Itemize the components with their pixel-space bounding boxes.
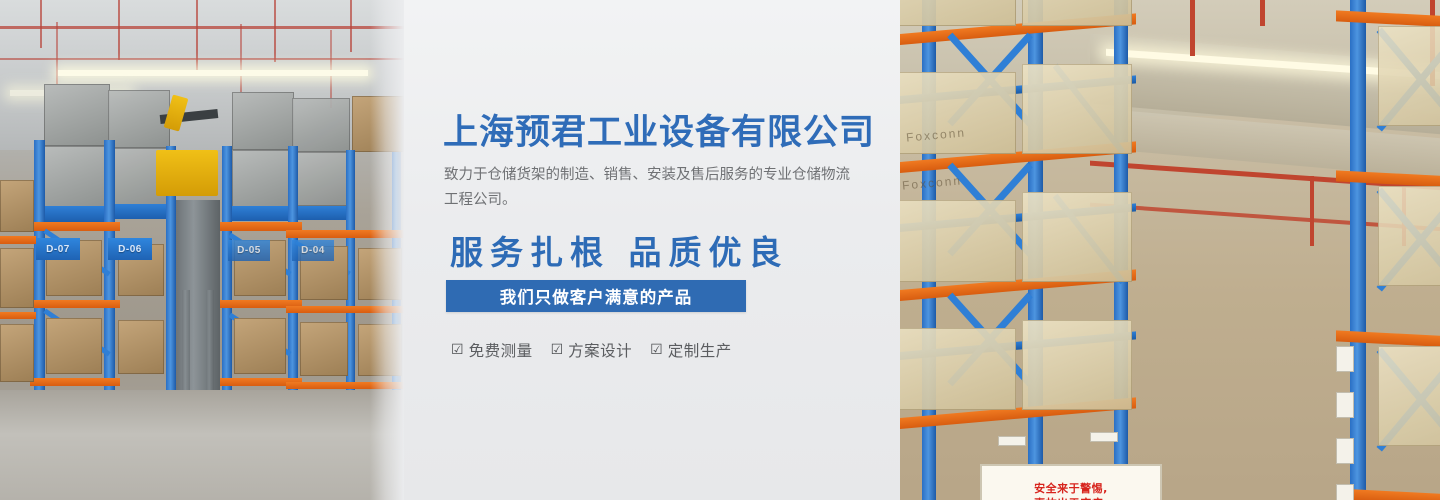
carton bbox=[300, 322, 348, 376]
wrapped-pallet bbox=[1378, 186, 1440, 286]
stacked-tote bbox=[292, 152, 350, 206]
rack-beam bbox=[30, 300, 120, 308]
stacked-tote bbox=[232, 92, 294, 150]
checkbox-check-icon: ☑ bbox=[650, 343, 663, 357]
ceiling-hanger bbox=[330, 30, 332, 108]
left-warehouse-photo: D-07 D-06 D-05 D-04 bbox=[0, 0, 404, 500]
rack-label-d05: D-05 bbox=[228, 240, 270, 261]
checkbox-check-icon: ☑ bbox=[451, 343, 464, 357]
rack-beam bbox=[30, 378, 120, 386]
left-photo-fade bbox=[370, 0, 404, 500]
shelf-label bbox=[1336, 392, 1354, 418]
ceiling-beam bbox=[0, 58, 404, 60]
shelf-label bbox=[1336, 438, 1354, 464]
feature-item-free-measurement: ☑ 免费测量 bbox=[451, 339, 533, 361]
rack-label-d06: D-06 bbox=[108, 238, 152, 260]
feature-label: 方案设计 bbox=[568, 339, 632, 361]
carton bbox=[118, 320, 164, 374]
sprinkler-drop bbox=[1310, 176, 1314, 246]
stacked-tote bbox=[44, 84, 110, 146]
right-warehouse-photo-wrapper: Foxconn Foxconn Foxconn Foxconn bbox=[900, 0, 1440, 500]
ceiling-hanger bbox=[196, 0, 198, 70]
stacked-tote bbox=[292, 98, 350, 152]
ceiling-hanger bbox=[118, 0, 120, 60]
slogan-text: 服务扎根 品质优良 bbox=[450, 226, 789, 274]
rack-beam bbox=[0, 236, 36, 244]
stacked-tote bbox=[232, 150, 294, 208]
wrapped-pallet bbox=[1378, 26, 1440, 126]
ceiling-beam bbox=[0, 26, 404, 29]
pallet bbox=[106, 204, 174, 219]
feature-item-custom-production: ☑ 定制生产 bbox=[650, 339, 732, 361]
wrapped-pallet bbox=[1022, 64, 1132, 154]
rack-label-d07: D-07 bbox=[36, 238, 80, 260]
rack-upright bbox=[1350, 0, 1366, 500]
forklift-body bbox=[156, 150, 218, 196]
feature-label: 免费测量 bbox=[469, 339, 533, 361]
wrapped-pallet bbox=[1022, 0, 1132, 26]
rack-beam bbox=[0, 312, 36, 319]
wrapped-pallet bbox=[900, 0, 1016, 26]
wrapped-pallet bbox=[1022, 192, 1132, 282]
wrapped-pallet bbox=[1378, 346, 1440, 446]
feature-list: ☑ 免费测量 ☑ 方案设计 ☑ 定制生产 bbox=[451, 339, 732, 361]
shelf-label bbox=[1090, 432, 1118, 442]
ceiling-hanger bbox=[350, 0, 352, 52]
rack-label-text: D-07 bbox=[46, 244, 70, 255]
rack-label-text: D-04 bbox=[301, 245, 325, 256]
promise-button[interactable]: 我们只做客户满意的产品 bbox=[446, 280, 746, 312]
checkbox-check-icon: ☑ bbox=[551, 343, 564, 357]
warehouse-floor bbox=[0, 390, 404, 500]
feature-item-solution-design: ☑ 方案设计 bbox=[551, 339, 633, 361]
feature-label: 定制生产 bbox=[668, 339, 732, 361]
sprinkler-pipe bbox=[1190, 0, 1195, 56]
shelf-label bbox=[1336, 484, 1354, 500]
ceiling-hanger bbox=[274, 0, 276, 62]
rack-beam bbox=[30, 222, 120, 231]
rack-label-text: D-06 bbox=[118, 244, 142, 255]
company-description: 致力于仓储货架的制造、销售、安装及售后服务的专业仓储物流工程公司。 bbox=[444, 163, 862, 213]
wrapped-pallet bbox=[900, 200, 1016, 282]
rack-label-d04: D-04 bbox=[292, 240, 334, 261]
carton bbox=[46, 318, 102, 374]
wrapped-pallet bbox=[900, 328, 1016, 410]
safety-warning-sign: 安全来于警惕, 事故出于麻痹. bbox=[980, 464, 1162, 500]
right-warehouse-photo: Foxconn Foxconn Foxconn Foxconn bbox=[900, 0, 1440, 500]
page-title: 上海预君工业设备有限公司 bbox=[443, 104, 913, 155]
wrapped-pallet bbox=[1022, 320, 1132, 410]
hero-content: 上海预君工业设备有限公司 致力于仓储货架的制造、销售、安装及售后服务的专业仓储物… bbox=[443, 0, 963, 500]
shelf-label bbox=[998, 436, 1026, 446]
stacked-tote bbox=[44, 146, 110, 208]
carton bbox=[0, 324, 34, 382]
ceiling-hanger bbox=[40, 0, 42, 48]
ceiling-light bbox=[58, 70, 368, 76]
safety-sign-line-1: 安全来于警惕, bbox=[1034, 482, 1108, 497]
carton bbox=[0, 248, 34, 308]
pallet bbox=[290, 206, 352, 220]
carton-brand-text: Foxconn bbox=[902, 173, 963, 192]
carton bbox=[234, 318, 286, 374]
rack-label-text: D-05 bbox=[237, 245, 261, 256]
pallet bbox=[40, 206, 114, 222]
shelf-label bbox=[1336, 346, 1354, 372]
sprinkler-pipe bbox=[1260, 0, 1265, 26]
hero-banner: D-07 D-06 D-05 D-04 上海预君工业设备有限公司 bbox=[0, 0, 1440, 500]
carton bbox=[0, 180, 34, 232]
